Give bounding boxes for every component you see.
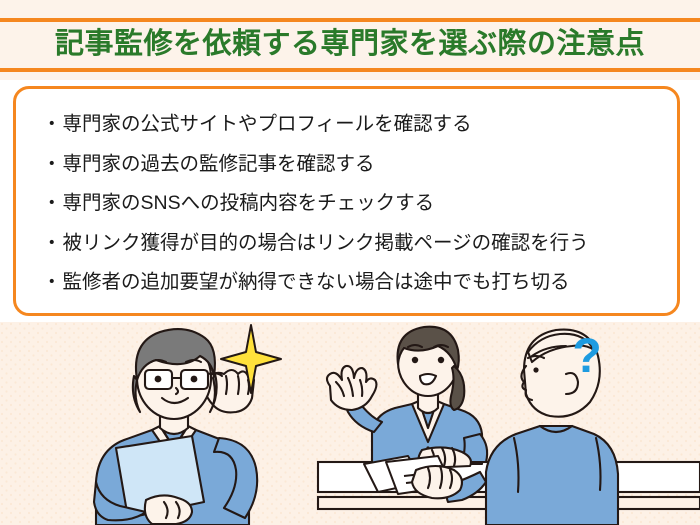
- header-rule-bottom: [0, 68, 700, 72]
- eye-left: [155, 376, 162, 383]
- question-mark-glyph: ?: [572, 330, 601, 383]
- checklist-card: ・ 専門家の公式サイトやプロフィールを確認する ・ 専門家の過去の監修記事を確認…: [13, 86, 680, 316]
- eye-right-2: [438, 357, 444, 363]
- bullet-marker-icon: ・: [42, 271, 62, 294]
- client-eye: [533, 367, 538, 372]
- list-item: ・ 被リンク獲得が目的の場合はリンク掲載ページの確認を行う: [42, 232, 651, 255]
- page-title: 記事監修を依頼する専門家を選ぶ際の注意点: [0, 20, 700, 68]
- client-shirt: [486, 426, 618, 525]
- eye-right: [191, 376, 198, 383]
- question-mark-icon: ?: [572, 330, 601, 383]
- bullet-marker-icon: ・: [42, 113, 62, 136]
- list-item-label: 専門家の過去の監修記事を確認する: [63, 153, 375, 176]
- client-hand: [412, 466, 462, 498]
- list-item: ・ 監修者の追加要望が納得できない場合は途中でも打ち切る: [42, 271, 651, 294]
- illustration-area: ?: [0, 322, 700, 525]
- slide-root: 記事監修を依頼する専門家を選ぶ際の注意点 ・ 専門家の公式サイトやプロフィールを…: [0, 0, 700, 525]
- list-item: ・ 専門家の公式サイトやプロフィールを確認する: [42, 113, 651, 136]
- bullet-marker-icon: ・: [42, 153, 62, 176]
- header-band: 記事監修を依頼する専門家を選ぶ際の注意点: [0, 0, 700, 80]
- list-item-label: 被リンク獲得が目的の場合はリンク掲載ページの確認を行う: [63, 232, 589, 255]
- bullet-marker-icon: ・: [42, 192, 62, 215]
- eye-left-2: [412, 357, 418, 363]
- illustration-scene: ?: [0, 322, 700, 525]
- list-item: ・ 専門家のSNSへの投稿内容をチェックする: [42, 192, 651, 215]
- finger-line-2: [238, 376, 239, 394]
- bullet-marker-icon: ・: [42, 232, 62, 255]
- list-item-label: 専門家のSNSへの投稿内容をチェックする: [63, 192, 435, 215]
- list-item: ・ 専門家の過去の監修記事を確認する: [42, 153, 651, 176]
- finger-line-1: [226, 376, 227, 394]
- list-item-label: 監修者の追加要望が納得できない場合は途中でも打ち切る: [63, 271, 570, 294]
- list-item-label: 専門家の公式サイトやプロフィールを確認する: [63, 113, 472, 136]
